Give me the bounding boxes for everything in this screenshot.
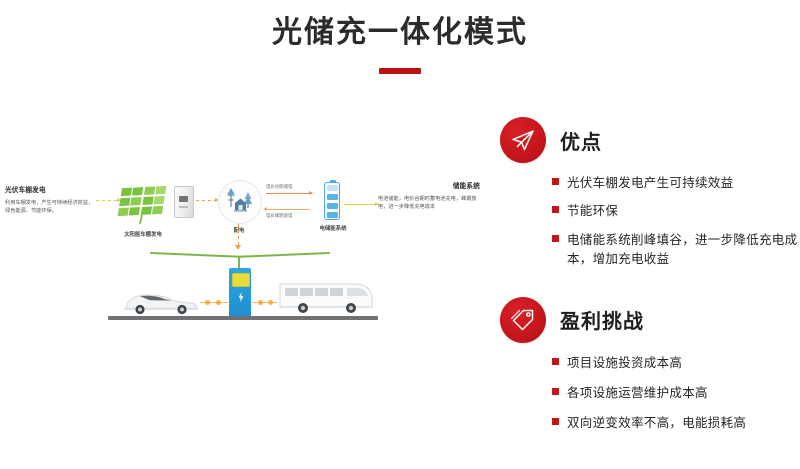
flow-label-store: 电价谷期储电	[266, 184, 292, 190]
bullet-text: 各项设施运营维护成本高	[567, 384, 708, 403]
charge-spark	[216, 300, 221, 305]
flow-arrow-solar-in	[96, 200, 118, 201]
paper-plane-icon	[500, 117, 546, 163]
left-block-heading: 光伏车棚发电	[5, 186, 97, 196]
bullet-square-icon	[552, 235, 559, 242]
caption-battery: 电储能系统	[306, 224, 360, 232]
list-item: 项目设施投资成本高	[552, 354, 800, 373]
diagram-left-text-block: 光伏车棚发电 利用车棚发电，产生可持续经济效益，绿色能源、节能环保。	[5, 186, 97, 215]
charge-spark	[258, 300, 263, 305]
price-tag-icon	[500, 297, 546, 343]
list-item: 双向逆变效率不高，电能损耗高	[552, 414, 800, 433]
ground-line	[108, 316, 378, 320]
diagram-right-text-block: 储能系统 电池储能，电价谷期时蓄电池充电，峰期放电，进一步降低充电成本	[378, 182, 480, 211]
page-title: 光储充一体化模式	[0, 14, 800, 52]
flow-arrow-release	[266, 209, 310, 210]
battery-icon	[324, 182, 340, 220]
bus-icon	[277, 278, 375, 316]
section-advantages-header: 优点	[500, 112, 800, 168]
caption-solar: 太阳能车棚发电	[108, 230, 178, 238]
list-item: 节能环保	[552, 202, 800, 221]
section-challenges-title: 盈利挑战	[560, 305, 644, 334]
challenges-bullet-list: 项目设施投资成本高 各项设施运营维护成本高 双向逆变效率不高，电能损耗高	[552, 354, 800, 434]
charging-pile-icon	[229, 268, 251, 316]
power-distribution-icon	[218, 180, 262, 224]
charge-spark	[205, 300, 210, 305]
bullet-text: 双向逆变效率不高，电能损耗高	[567, 414, 746, 433]
inverter-icon	[174, 186, 194, 218]
bullet-square-icon	[552, 358, 559, 365]
flow-arrow-battery-out	[344, 204, 376, 205]
title-block: 光储充一体化模式	[0, 14, 800, 74]
section-challenges: 盈利挑战 项目设施投资成本高 各项设施运营维护成本高 双向逆变效率不高，电能损耗…	[500, 292, 800, 434]
bullet-text: 节能环保	[567, 202, 618, 221]
flow-label-release: 电价峰期放电	[266, 213, 292, 219]
flow-arrow-to-grid	[238, 224, 239, 246]
section-challenges-header: 盈利挑战	[500, 292, 800, 348]
bullet-square-icon	[552, 206, 559, 213]
advantages-bullet-list: 光伏车棚发电产生可持续效益 节能环保 电储能系统削峰填谷，进一步降低充电成本，增…	[552, 174, 800, 270]
solar-panel-stem	[139, 214, 143, 224]
bullet-text: 电储能系统削峰填谷，进一步降低充电成本，增加充电收益	[567, 231, 800, 270]
bullet-text: 光伏车棚发电产生可持续效益	[567, 174, 733, 193]
section-advantages-title: 优点	[560, 126, 602, 155]
solar-panel-icon	[118, 186, 167, 216]
system-diagram: 光伏车棚发电 利用车棚发电，产生可持续经济效益，绿色能源、节能环保。 太阳能车棚…	[0, 160, 500, 360]
right-block-heading: 储能系统	[378, 182, 480, 192]
bullet-square-icon	[552, 178, 559, 185]
title-underline-rule	[379, 68, 421, 74]
bullet-text: 项目设施投资成本高	[567, 354, 682, 373]
list-item: 电储能系统削峰填谷，进一步降低充电成本，增加充电收益	[552, 231, 800, 270]
charge-spark	[268, 300, 273, 305]
bullet-square-icon	[552, 418, 559, 425]
distribution-bus-line	[150, 250, 330, 268]
right-block-body: 电池储能，电价谷期时蓄电池充电，峰期放电，进一步降低充电成本	[378, 196, 477, 210]
list-item: 各项设施运营维护成本高	[552, 384, 800, 403]
flow-arrow-store	[266, 193, 310, 194]
charging-pile-screen	[232, 273, 250, 287]
slide-root: 光储充一体化模式 光伏车棚发电 利用车棚发电，产生可持续经济效益，绿色能源、节能…	[0, 0, 800, 469]
lightning-bolt-icon	[238, 292, 244, 302]
flow-arrow-inverter-out	[196, 200, 216, 201]
left-block-body: 利用车棚发电，产生可持续经济效益，绿色能源、节能环保。	[5, 200, 93, 214]
section-advantages: 优点 光伏车棚发电产生可持续效益 节能环保 电储能系统削峰填谷，进一步降低充电成…	[500, 112, 800, 270]
car-icon	[120, 288, 202, 316]
bullet-square-icon	[552, 388, 559, 395]
charge-link-right	[252, 302, 278, 303]
content-panel: 优点 光伏车棚发电产生可持续效益 节能环保 电储能系统削峰填谷，进一步降低充电成…	[500, 112, 800, 445]
list-item: 光伏车棚发电产生可持续效益	[552, 174, 800, 193]
